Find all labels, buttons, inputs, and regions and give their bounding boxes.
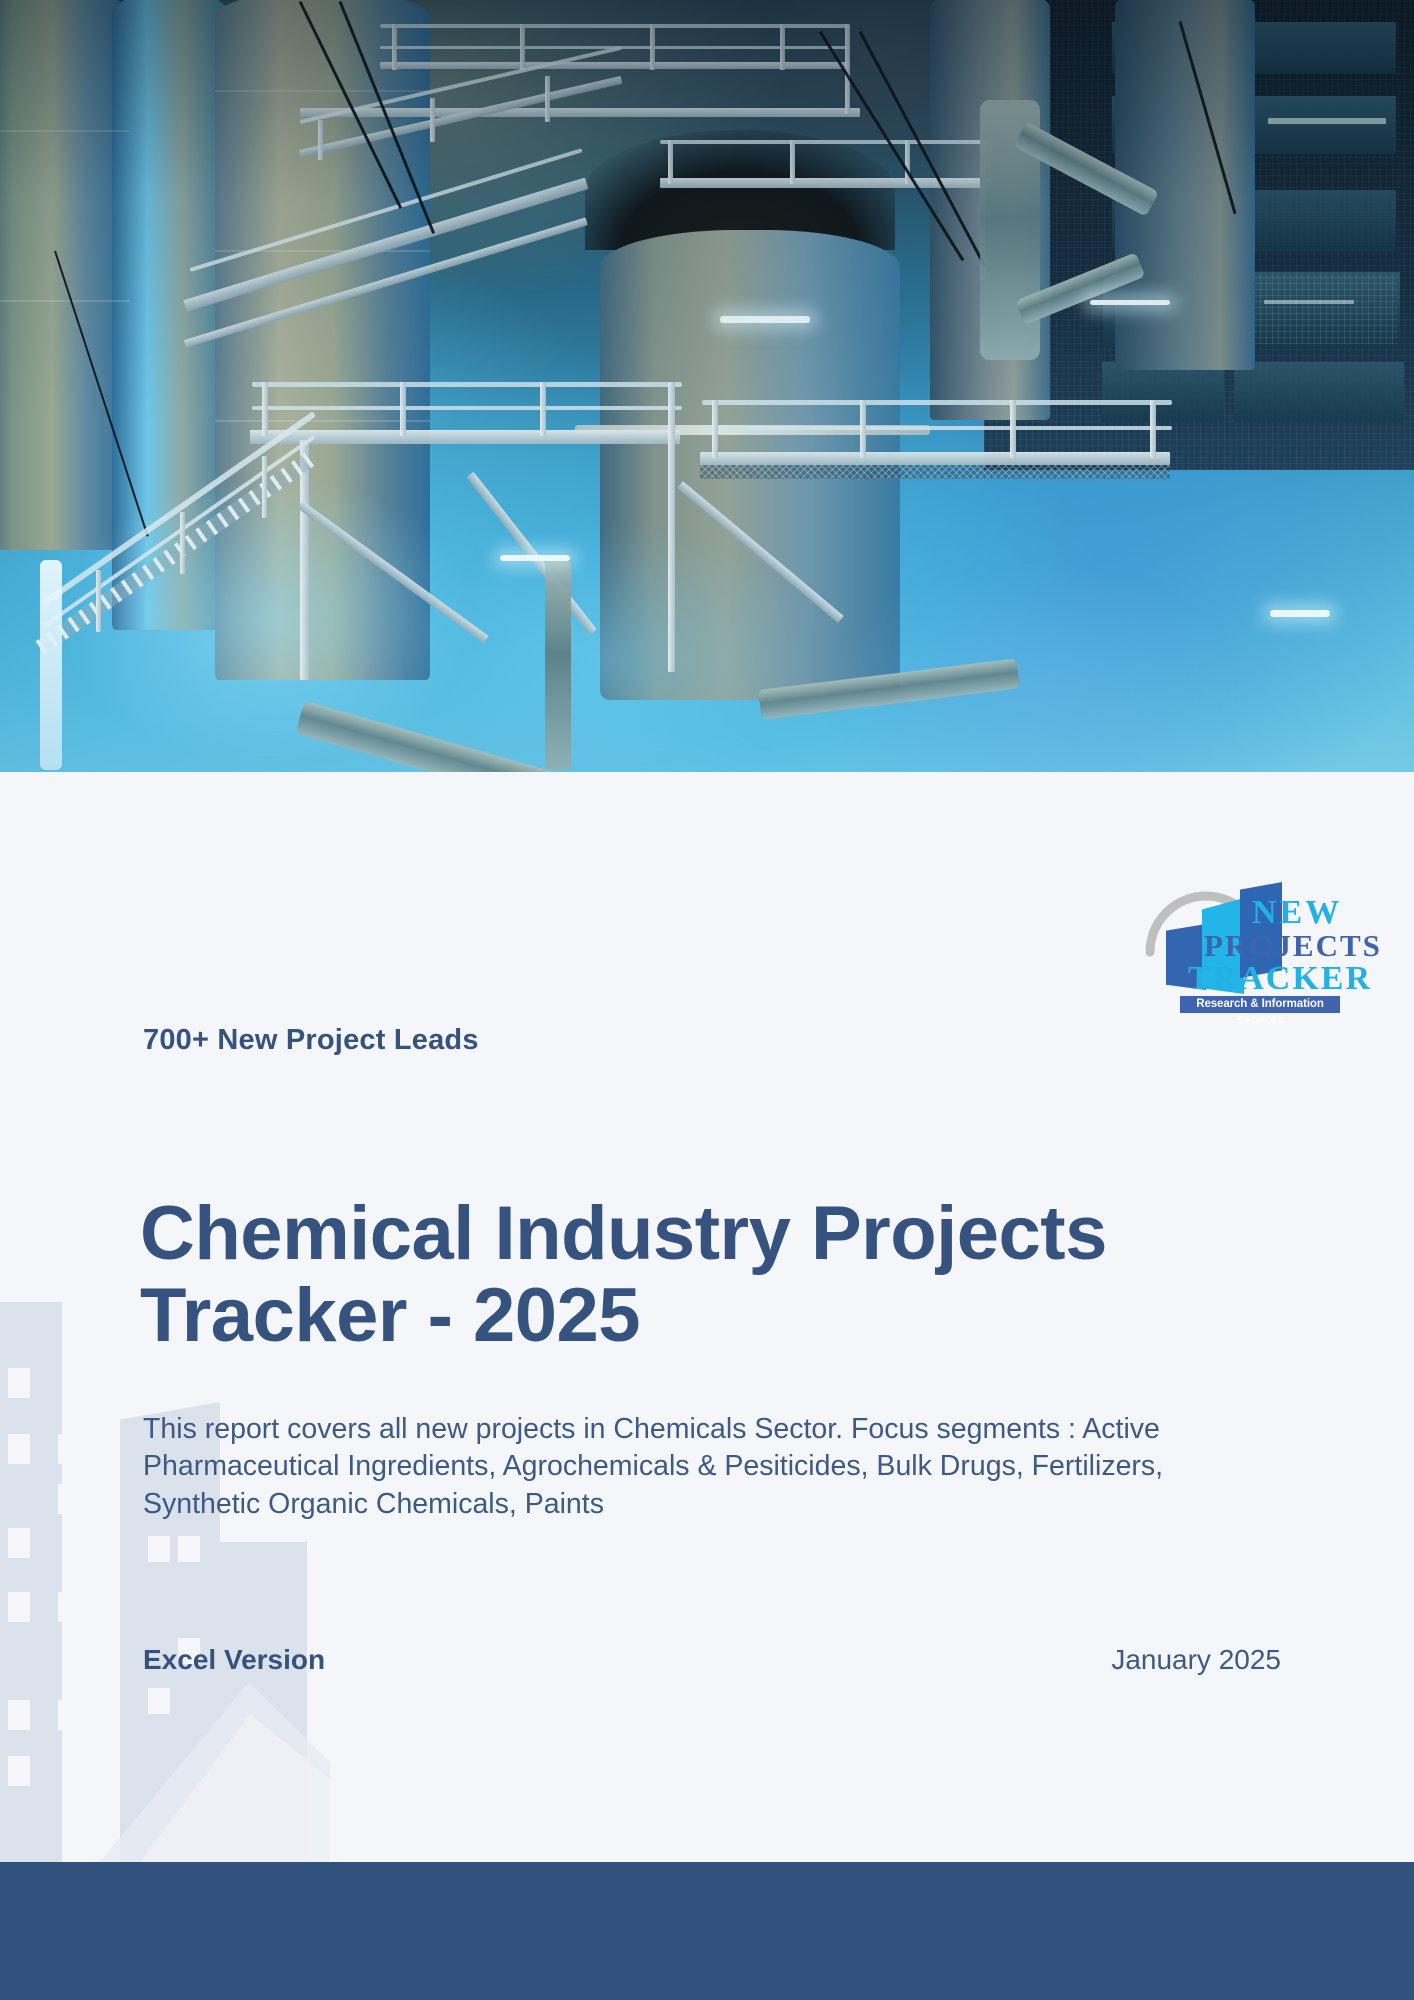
logo-tagline: Research & Information Services [1180,996,1340,1013]
chemical-plant-photo [0,0,1414,772]
report-description: This report covers all new projects in C… [143,1411,1283,1524]
version-label: Excel Version [143,1644,325,1676]
logo-text-tracker: TRACKER [1188,960,1372,998]
report-cover-page: 700+ New Project Leads Chemical Industry… [0,0,1414,2000]
hero-image [0,0,1414,772]
logo-text-projects: PROJECTS [1204,928,1382,964]
logo-text-new: NEW [1252,894,1342,932]
publication-date: January 2025 [1111,1644,1281,1676]
bottom-accent-bar [0,1862,1414,2000]
page-title: Chemical Industry Projects Tracker - 202… [140,1193,1340,1357]
company-logo: NEW PROJECTS TRACKER Research & Informat… [1140,846,1340,1011]
lead-count-eyebrow: 700+ New Project Leads [143,1024,479,1057]
